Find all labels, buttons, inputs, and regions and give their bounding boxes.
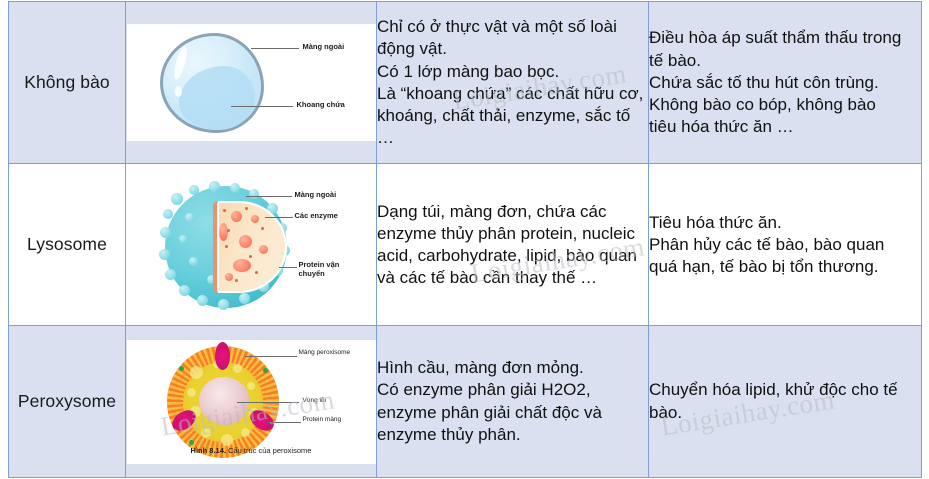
leader-line-vung-loi xyxy=(237,402,299,403)
cell-figure: Màng ngoài Các enzyme Protein vận chuyển xyxy=(126,164,377,326)
figure-label-mang-ngoai: Màng ngoài xyxy=(303,42,345,51)
peroxisome-vesicle xyxy=(247,382,255,390)
structure-line: acid, carbohydrate, lipid, bào quan xyxy=(377,245,648,267)
structure-line: Dạng túi, màng đơn, chứa các xyxy=(377,201,648,223)
function-line: Chuyển hóa lipid, khử độc cho tế xyxy=(649,379,921,401)
cell-structure: Dạng túi, màng đơn, chứa các enzyme thủy… xyxy=(377,164,649,326)
enzyme-vesicle xyxy=(239,235,252,248)
cell-organelle-name: Peroxysome xyxy=(9,326,126,478)
comparison-table-wrapper: Không bào Màng ngoài Khoang chứa Chỉ có … xyxy=(8,1,921,478)
cell-organelle-name: Không bào xyxy=(9,2,126,164)
enzyme-dot xyxy=(255,271,258,274)
membrane-marker xyxy=(263,368,268,373)
function-line: Phân hủy các tế bào, bào quan xyxy=(649,234,921,256)
lysosome-bump xyxy=(163,209,173,219)
figure-label-vung-loi: Vùng lõi xyxy=(303,397,327,404)
structure-line: enzyme thủy phân protein, nucleic xyxy=(377,223,648,245)
lysosome-bump xyxy=(179,285,190,296)
figure-label-cac-enzyme: Các enzyme xyxy=(295,211,338,220)
table-row: Không bào Màng ngoài Khoang chứa Chỉ có … xyxy=(9,2,922,164)
peroxisome-vesicle xyxy=(233,364,242,373)
enzyme-vesicle xyxy=(219,223,228,241)
enzyme-dot xyxy=(223,209,226,212)
enzyme-vesicle xyxy=(233,259,251,272)
enzyme-dot xyxy=(245,207,248,210)
membrane-protein xyxy=(215,342,230,370)
figure-caption-number: Hình 8.14. xyxy=(191,446,226,455)
structure-line: Chỉ có ở thực vật và một số loài xyxy=(377,16,648,38)
figure-label-protein-mang: Protein màng xyxy=(303,416,342,423)
function-line: Điều hòa áp suất thẩm thấu trong xyxy=(649,27,921,49)
function-line: Tiêu hóa thức ăn. xyxy=(649,212,921,234)
peroxisome-diagram: Màng peroxisome Vùng lõi Protein màng Hì… xyxy=(127,340,376,464)
vacuole-diagram: Màng ngoài Khoang chứa xyxy=(127,24,376,141)
lysosome-bump xyxy=(239,293,250,304)
enzyme-vesicle xyxy=(251,215,259,223)
structure-line: và các tế bào cần thay thế … xyxy=(377,267,648,289)
lysosome-bump xyxy=(165,269,176,280)
leader-line-khoang-chua xyxy=(231,106,293,107)
leader-line-protein-mang xyxy=(267,422,301,423)
lysosome-bump xyxy=(185,213,194,222)
enzyme-dot xyxy=(227,229,230,232)
cell-figure: Màng peroxisome Vùng lõi Protein màng Hì… xyxy=(126,326,377,478)
lysosome-bump xyxy=(171,193,183,205)
membrane-marker xyxy=(189,440,194,445)
membrane-marker xyxy=(179,366,184,371)
structure-line: Có 1 lớp màng bao bọc. xyxy=(377,61,648,83)
enzyme-vesicle xyxy=(231,211,242,222)
figure-label-mang-peroxisome: Màng peroxisome xyxy=(299,349,361,357)
structure-line: enzyme phân giải chất độc và xyxy=(377,402,648,424)
leader-line-mang-ngoai xyxy=(251,48,299,49)
leader-line-cac-enzyme xyxy=(265,217,293,218)
leader-line-mang-ngoai xyxy=(246,196,292,197)
enzyme-dot xyxy=(235,279,238,282)
function-line: Không bào co bóp, không bào xyxy=(649,94,921,116)
structure-line: Là “khoang chứa” các chất hữu cơ, xyxy=(377,83,648,105)
lysosome-bump xyxy=(209,181,220,192)
peroxisome-vesicle xyxy=(221,434,233,446)
function-line: tiêu hóa thức ăn … xyxy=(649,116,921,138)
figure-caption: Hình 8.14. Cấu trúc của peroxisome xyxy=(127,446,376,455)
lysosome-bump xyxy=(189,257,198,266)
function-line: bào. xyxy=(649,402,921,424)
figure-label-khoang-chua: Khoang chứa xyxy=(297,100,345,109)
organelle-name-label: Lysosome xyxy=(27,234,107,254)
cell-function: Chuyển hóa lipid, khử độc cho tế bào. xyxy=(649,326,922,478)
enzyme-dot xyxy=(249,255,252,258)
cell-function: Điều hòa áp suất thẩm thấu trong tế bào.… xyxy=(649,2,922,164)
lysosome-bump xyxy=(230,183,240,193)
organelle-comparison-table: Không bào Màng ngoài Khoang chứa Chỉ có … xyxy=(8,1,922,478)
peroxisome-vesicle xyxy=(201,428,211,438)
structure-line: Có enzyme phân giải H2O2, xyxy=(377,379,648,401)
cell-structure: Chỉ có ở thực vật và một số loài động vậ… xyxy=(377,2,649,164)
organelle-name-label: Không bào xyxy=(24,72,110,92)
structure-line: … xyxy=(377,127,648,149)
structure-line: Hình cầu, màng đơn mỏng. xyxy=(377,357,648,379)
structure-line: động vật. xyxy=(377,38,648,60)
table-row: Lysosome xyxy=(9,164,922,326)
peroxisome-core-region xyxy=(199,377,249,425)
lysosome-diagram: Màng ngoài Các enzyme Protein vận chuyển xyxy=(127,179,376,311)
enzyme-vesicle xyxy=(259,245,268,254)
table-row: Peroxysome xyxy=(9,326,922,478)
cell-structure: Hình cầu, màng đơn mỏng. Có enzyme phân … xyxy=(377,326,649,478)
structure-line: khoáng, chất thải, enzyme, sắc tố xyxy=(377,105,648,127)
lysosome-bump xyxy=(159,249,170,260)
figure-label-protein-van-chuyen: Protein vận chuyển xyxy=(299,260,365,279)
enzyme-vesicle xyxy=(225,273,233,281)
lysosome-bump xyxy=(179,235,187,243)
function-line: Chứa sắc tố thu hút côn trùng. xyxy=(649,72,921,94)
cell-figure: Màng ngoài Khoang chứa xyxy=(126,2,377,164)
organelle-name-label: Peroxysome xyxy=(18,391,116,411)
lysosome-bump xyxy=(160,227,171,238)
function-line: tế bào. xyxy=(649,50,921,72)
figure-label-mang-ngoai: Màng ngoài xyxy=(295,190,337,199)
lysosome-bump xyxy=(249,189,259,199)
leader-line-mang-peroxisome xyxy=(245,356,297,357)
lysosome-bump xyxy=(189,185,199,195)
peroxisome-vesicle xyxy=(190,366,203,379)
structure-line: enzyme thủy phân. xyxy=(377,424,648,446)
function-line: quá hạn, tế bào bị tổn thương. xyxy=(649,256,921,278)
cell-function: Tiêu hóa thức ăn. Phân hủy các tế bào, b… xyxy=(649,164,922,326)
vacuole-highlight-small xyxy=(175,86,182,97)
lysosome-bump xyxy=(197,295,208,306)
enzyme-dot xyxy=(225,245,228,248)
leader-line-protein-van-chuyen xyxy=(279,267,297,268)
peroxisome-vesicle xyxy=(241,428,250,437)
peroxisome-vesicle xyxy=(187,388,196,397)
enzyme-dot xyxy=(261,227,264,230)
cell-organelle-name: Lysosome xyxy=(9,164,126,326)
figure-caption-text: Cấu trúc của peroxisome xyxy=(226,446,311,455)
lysosome-bump xyxy=(218,299,229,310)
